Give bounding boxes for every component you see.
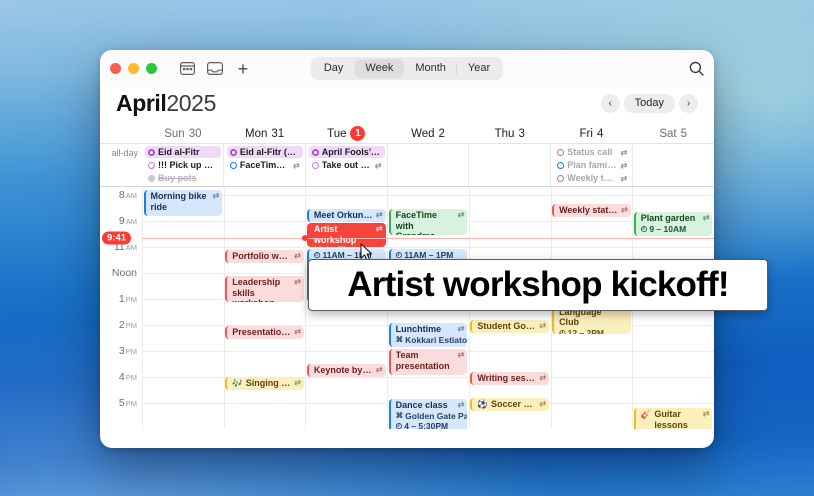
all-day-event[interactable]: !!! Pick up arts...: [145, 159, 221, 171]
event-title-row: Lunchtime⇄: [396, 324, 465, 335]
event-title: Lunchtime: [396, 324, 442, 335]
repeat-icon: ⇄: [458, 400, 465, 411]
all-day-event-title: Status call: [567, 147, 612, 157]
all-day-columns: Eid al-Fitr!!! Pick up arts...Buy potsEi…: [142, 144, 714, 186]
zoom-button[interactable]: [146, 63, 157, 74]
event-subtitle-text: 9 – 10AM: [649, 224, 686, 235]
hour-gridline: [142, 247, 714, 248]
day-gridline: [305, 187, 306, 429]
all-day-column-1[interactable]: Eid al-Fitr (obs...FaceTime G...⇄: [223, 144, 305, 186]
event-emoji-icon: 🎶: [232, 378, 243, 389]
tooltip-text: Artist workshop kickoff!: [347, 265, 728, 305]
repeat-icon: ⇄: [703, 213, 710, 224]
event-title: Portfolio work...: [232, 251, 291, 262]
clock-icon: ◴: [641, 224, 648, 235]
repeat-icon: ⇄: [458, 210, 465, 221]
event-emoji-icon: 🎸: [641, 409, 652, 420]
repeat-icon: ⇄: [375, 161, 382, 170]
calendar-dot-icon: [557, 149, 564, 156]
time-label-ampm: PM: [126, 321, 137, 330]
day-header-date: 3: [518, 128, 524, 140]
time-label-hour: 3: [119, 345, 125, 357]
clock-icon: ◴: [559, 328, 566, 335]
traffic-lights: [110, 63, 157, 74]
day-header-wed[interactable]: Wed2: [387, 128, 469, 140]
event-title-row: Meet Orkun fo...⇄: [314, 210, 383, 221]
time-label-hour: 4: [119, 371, 125, 383]
repeat-icon: ⇄: [376, 224, 383, 235]
title-row: April2025 ‹ Today ›: [100, 87, 714, 124]
day-header-date: 30: [189, 128, 202, 140]
close-button[interactable]: [110, 63, 121, 74]
repeat-icon: ⇄: [458, 324, 465, 335]
time-label-ampm: AM: [126, 243, 137, 252]
time-label: 9AM: [119, 215, 137, 227]
event-subtitle: ◴12 – 2PM: [559, 328, 628, 335]
event-title-row: Student Gover...⇄: [477, 321, 546, 332]
day-header-weekday: Sat: [659, 128, 676, 140]
time-label-ampm: AM: [126, 191, 137, 200]
time-label: Noon: [112, 267, 137, 279]
time-label: 8AM: [119, 189, 137, 201]
all-day-event[interactable]: Weekly tea...⇄: [554, 172, 630, 184]
day-header-thu[interactable]: Thu3: [469, 128, 551, 140]
time-label: 2PM: [119, 319, 137, 331]
title-month: April: [116, 90, 166, 116]
all-day-event-title: Eid al-Fitr (obs...: [240, 147, 300, 157]
time-label-hour: Noon: [112, 267, 137, 279]
calendar-event[interactable]: Keynote by Ja...⇄: [307, 364, 386, 377]
event-title-row: Dance class⇄: [396, 400, 465, 411]
event-title: Team presentation: [396, 350, 455, 371]
event-title-row: 🎸Guitar lessons with S⇄: [641, 409, 710, 429]
day-header-date: 5: [681, 128, 687, 140]
calendar-window: + Day Week Month Year April2025 ‹ Today …: [100, 50, 714, 448]
time-label: 3PM: [119, 345, 137, 357]
event-title-row: 🎶Singing gr...⇄: [232, 378, 301, 389]
calendar-event[interactable]: Weekly status⇄: [552, 204, 631, 217]
repeat-icon: ⇄: [539, 373, 546, 384]
repeat-icon: ⇄: [376, 210, 383, 221]
navigation-group: ‹ Today ›: [601, 94, 698, 113]
day-header-weekday: Tue: [327, 128, 346, 140]
all-day-column-6[interactable]: [632, 144, 714, 186]
event-subtitle-text: Golden Gate Park: [405, 411, 467, 422]
time-label-ampm: PM: [126, 347, 137, 356]
current-time-line: [142, 238, 714, 239]
repeat-icon: ⇄: [539, 321, 546, 332]
event-title: Guitar lessons with S: [654, 409, 699, 429]
day-header-weekday: Wed: [411, 128, 434, 140]
calendar-event[interactable]: Artist workshop kickoff!⇄: [307, 223, 386, 247]
time-label-hour: 8: [119, 189, 125, 201]
event-title: Soccer pra...: [491, 399, 536, 410]
calendar-event[interactable]: Student Gover...⇄: [470, 320, 549, 333]
day-header-weekday: Sun: [164, 128, 184, 140]
calendar-event[interactable]: Presentation...⇄: [225, 326, 304, 339]
repeat-icon: ⇄: [376, 365, 383, 376]
event-subtitle: ⌘Golden Gate Park: [396, 411, 465, 422]
all-day-event[interactable]: FaceTime G...⇄: [227, 159, 303, 171]
repeat-icon: ⇄: [458, 350, 465, 361]
all-day-event-title: FaceTime G...: [240, 160, 290, 170]
current-time-badge: 9:41: [102, 232, 131, 245]
all-day-event[interactable]: April Fools’ Day: [309, 146, 385, 158]
location-pin-icon: ⌘: [396, 335, 404, 346]
all-day-column-2[interactable]: April Fools’ DayTake out the...⇄: [305, 144, 387, 186]
calendar-dot-icon: [148, 175, 155, 182]
calendar-event[interactable]: Meet Orkun fo...⇄: [307, 209, 386, 222]
view-month[interactable]: Month: [404, 59, 457, 78]
event-subtitle: ◴4 – 5:30PM: [396, 421, 465, 429]
day-header-weekday: Fri: [580, 128, 593, 140]
event-title-row: Leadership skills workshop⇄: [232, 277, 301, 302]
time-label: 1PM: [119, 293, 137, 305]
search-icon[interactable]: [689, 61, 704, 76]
calendar-event[interactable]: Morning bike ride⇄: [144, 190, 223, 216]
calendar-event[interactable]: FaceTime with Grandma⇄: [389, 209, 468, 235]
calendar-event[interactable]: ⚽Soccer pra...⇄: [470, 398, 549, 411]
repeat-icon: ⇄: [294, 378, 301, 389]
event-subtitle-text: 12 – 2PM: [568, 328, 604, 335]
title-year: 2025: [166, 90, 216, 116]
day-header-date: 31: [271, 128, 284, 140]
event-subtitle: ⌘Kokkari Estiatorio: [396, 335, 465, 346]
window-toolbar: + Day Week Month Year: [100, 50, 714, 87]
day-header-date: 4: [597, 128, 603, 140]
repeat-icon: ⇄: [539, 399, 546, 410]
all-day-event-title: !!! Pick up arts...: [158, 160, 218, 170]
event-title: Writing sessio...: [477, 373, 536, 384]
all-day-event[interactable]: Buy pots: [145, 172, 221, 184]
repeat-icon: ⇄: [294, 327, 301, 338]
calendar-dot-icon: [148, 162, 155, 169]
calendar-dot-icon: [557, 162, 564, 169]
all-day-event[interactable]: Eid al-Fitr (obs...: [227, 146, 303, 158]
event-tooltip: Artist workshop kickoff!: [308, 259, 768, 311]
time-label-hour: 2: [119, 319, 125, 331]
event-title-row: Plant garden⇄: [641, 213, 710, 224]
day-header-sat[interactable]: Sat5: [632, 128, 714, 140]
calendar-event[interactable]: Leadership skills workshop⇄: [225, 276, 304, 302]
page-title: April2025: [116, 90, 216, 117]
calendar-event[interactable]: Dance class⇄⌘Golden Gate Park◴4 – 5:30PM: [389, 399, 468, 429]
event-title: Leadership skills workshop: [232, 277, 291, 302]
all-day-event-title: Buy pots: [158, 173, 197, 183]
all-day-event-title: Weekly tea...: [567, 173, 617, 183]
calendar-event[interactable]: Lunchtime⇄⌘Kokkari Estiatorio: [389, 323, 468, 347]
time-label: 4PM: [119, 371, 137, 383]
previous-week-button[interactable]: ‹: [601, 94, 620, 113]
calendar-dot-icon: [557, 175, 564, 182]
time-label-hour: 1: [119, 293, 125, 305]
hour-gridline: [142, 195, 714, 196]
event-title-row: Weekly status⇄: [559, 205, 628, 216]
event-subtitle-text: 4 – 5:30PM: [404, 421, 448, 429]
time-label-ampm: AM: [126, 217, 137, 226]
inbox-icon[interactable]: [202, 58, 228, 80]
event-title: Singing gr...: [246, 378, 291, 389]
event-title-row: Writing sessio...⇄: [477, 373, 546, 384]
calendar-dot-icon: [312, 162, 319, 169]
event-title-row: ⚽Soccer pra...⇄: [477, 399, 546, 410]
repeat-icon: ⇄: [620, 174, 627, 183]
calendar-dot-icon: [148, 149, 155, 156]
clock-icon: ◴: [396, 421, 403, 429]
all-day-row: all-day Eid al-Fitr!!! Pick up arts...Bu…: [100, 143, 714, 186]
all-day-event-title: Plan family...: [567, 160, 617, 170]
add-event-button[interactable]: +: [230, 58, 256, 80]
repeat-icon: ⇄: [294, 277, 301, 288]
event-title: FaceTime with Grandma: [396, 210, 455, 235]
day-header-fri[interactable]: Fri4: [551, 128, 633, 140]
time-label-hour: 5: [119, 397, 125, 409]
calendar-event[interactable]: 🎶Singing gr...⇄: [225, 377, 304, 390]
day-header-date: 2: [439, 128, 445, 140]
all-day-event-title: April Fools’ Day: [322, 147, 382, 157]
repeat-icon: ⇄: [293, 161, 300, 170]
day-header-weekday: Thu: [495, 128, 515, 140]
all-day-column-5[interactable]: Status call⇄Plan family...⇄Weekly tea...…: [550, 144, 632, 186]
day-header-tue[interactable]: Tue1: [305, 126, 387, 141]
location-pin-icon: ⌘: [396, 411, 404, 422]
all-day-event[interactable]: Status call⇄: [554, 146, 630, 158]
all-day-column-0[interactable]: Eid al-Fitr!!! Pick up arts...Buy pots: [142, 144, 223, 186]
all-day-event[interactable]: Plan family...⇄: [554, 159, 630, 171]
time-label-ampm: PM: [126, 373, 137, 382]
time-label-ampm: PM: [126, 399, 137, 408]
next-week-button[interactable]: ›: [679, 94, 698, 113]
all-day-column-3[interactable]: [387, 144, 469, 186]
event-title-row: Portfolio work...⇄: [232, 251, 301, 262]
repeat-icon: ⇄: [703, 409, 710, 420]
calendar-dot-icon: [312, 149, 319, 156]
today-button[interactable]: Today: [624, 94, 675, 113]
today-badge: 1: [350, 126, 365, 141]
repeat-icon: ⇄: [213, 191, 220, 202]
repeat-icon: ⇄: [620, 148, 627, 157]
repeat-icon: ⇄: [621, 205, 628, 216]
all-day-label: all-day: [100, 144, 142, 186]
event-title-row: Morning bike ride⇄: [151, 191, 220, 212]
view-year[interactable]: Year: [457, 59, 501, 78]
day-gridline: [142, 187, 143, 429]
calendar-dot-icon: [230, 162, 237, 169]
event-emoji-icon: ⚽: [477, 399, 488, 410]
day-header-row: Sun30Mon31Tue1Wed2Thu3Fri4Sat5: [100, 124, 714, 143]
all-day-event-title: Eid al-Fitr: [158, 147, 200, 157]
event-title-row: FaceTime with Grandma⇄: [396, 210, 465, 235]
all-day-column-4[interactable]: [468, 144, 550, 186]
event-title: Keynote by Ja...: [314, 365, 373, 376]
event-title: Meet Orkun fo...: [314, 210, 373, 221]
calendar-event[interactable]: Plant garden⇄◴9 – 10AM: [634, 212, 713, 236]
event-title-row: Keynote by Ja...⇄: [314, 365, 383, 376]
day-header-weekday: Mon: [245, 128, 267, 140]
day-header-sun[interactable]: Sun30: [142, 128, 224, 140]
repeat-icon: ⇄: [620, 161, 627, 170]
event-title: Presentation...: [232, 327, 291, 338]
calendar-icon[interactable]: [174, 58, 200, 80]
day-gridline: [224, 187, 225, 429]
calendar-event[interactable]: Writing sessio...⇄: [470, 372, 549, 385]
view-segmented-control[interactable]: Day Week Month Year: [311, 57, 503, 80]
event-title-row: Team presentation⇄: [396, 350, 465, 371]
all-day-event[interactable]: Eid al-Fitr: [145, 146, 221, 158]
event-title: Plant garden: [641, 213, 696, 224]
time-label: 5PM: [119, 397, 137, 409]
calendar-event[interactable]: 🎸Guitar lessons with S⇄: [634, 408, 713, 429]
all-day-event-title: Take out the...: [322, 160, 372, 170]
event-subtitle: ◴9 – 10AM: [641, 224, 710, 235]
current-time-dot: [302, 235, 308, 241]
view-day[interactable]: Day: [313, 59, 355, 78]
event-subtitle-text: Kokkari Estiatorio: [405, 335, 467, 346]
toolbar-left-group: +: [174, 58, 256, 80]
event-title: Weekly status: [559, 205, 618, 216]
event-title: Student Gover...: [477, 321, 536, 332]
minimize-button[interactable]: [128, 63, 139, 74]
time-label-hour: 9: [119, 215, 125, 227]
calendar-dot-icon: [230, 149, 237, 156]
repeat-icon: ⇄: [294, 251, 301, 262]
view-week[interactable]: Week: [354, 59, 404, 78]
all-day-event[interactable]: Take out the...⇄: [309, 159, 385, 171]
calendar-event[interactable]: Team presentation⇄: [389, 349, 468, 375]
event-title: Dance class: [396, 400, 448, 411]
event-title: Morning bike ride: [151, 191, 210, 212]
day-header-mon[interactable]: Mon31: [224, 128, 306, 140]
calendar-event[interactable]: Portfolio work...⇄: [225, 250, 304, 263]
time-label-ampm: PM: [126, 295, 137, 304]
event-title-row: Presentation...⇄: [232, 327, 301, 338]
time-axis: 8AM9AM11AMNoon1PM2PM3PM4PM5PM: [100, 187, 142, 429]
